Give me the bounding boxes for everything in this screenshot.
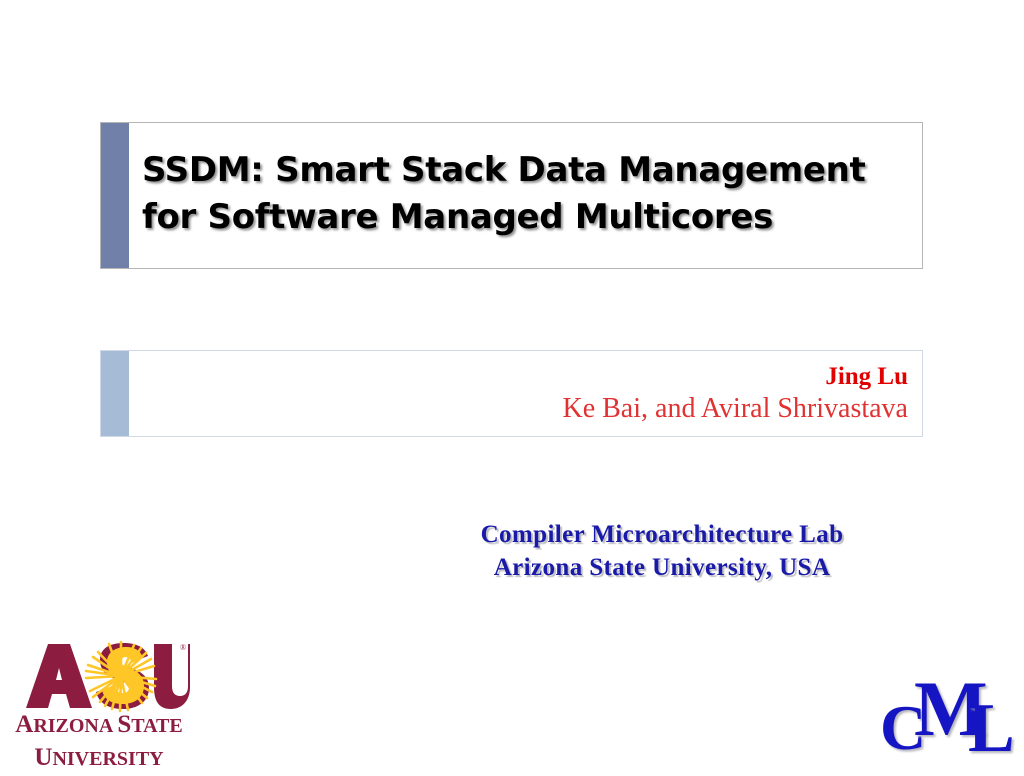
page-title-line-2: for Software Managed Multicores [142, 194, 922, 241]
asu-wm-rizona: RIZONA [33, 715, 113, 737]
asu-logo: ® ARIZONA STATE UNIVERSITY [8, 636, 190, 768]
asu-wm-u: U [34, 744, 52, 771]
asu-wm-tate: TATE [131, 715, 183, 737]
author-primary-name: Jing Lu [825, 361, 908, 392]
author-secondary-names: Ke Bai, and Aviral Shrivastava [562, 392, 908, 426]
asu-wordmark: ARIZONA STATE UNIVERSITY [8, 710, 190, 776]
asu-wm-niversity: NIVERSITY [52, 748, 163, 770]
authors-text-container: Jing Lu Ke Bai, and Aviral Shrivastava [129, 351, 922, 436]
asu-wordmark-line-1: ARIZONA STATE [8, 710, 190, 743]
affiliation-block: Compiler Microarchitecture Lab Arizona S… [312, 518, 1012, 584]
authors-accent-bar [101, 351, 129, 436]
asu-wordmark-line-2: UNIVERSITY [8, 743, 190, 776]
title-accent-bar [101, 123, 129, 268]
cml-letter-l: L [968, 694, 1015, 764]
page-title-line-1: SSDM: Smart Stack Data Management [142, 147, 922, 194]
registered-trademark-icon: ® [180, 643, 186, 652]
asu-wm-a: A [15, 711, 33, 738]
asu-wm-s: S [117, 711, 131, 738]
cml-logo: C M L [876, 672, 1016, 768]
affiliation-lab: Compiler Microarchitecture Lab [312, 518, 1012, 551]
affiliation-university: Arizona State University, USA [312, 551, 1012, 584]
authors-block: Jing Lu Ke Bai, and Aviral Shrivastava [100, 350, 923, 437]
title-text-container: SSDM: Smart Stack Data Management for So… [129, 123, 922, 268]
title-block: SSDM: Smart Stack Data Management for So… [100, 122, 923, 269]
asu-sunburst-mark-icon: ® [8, 636, 190, 714]
